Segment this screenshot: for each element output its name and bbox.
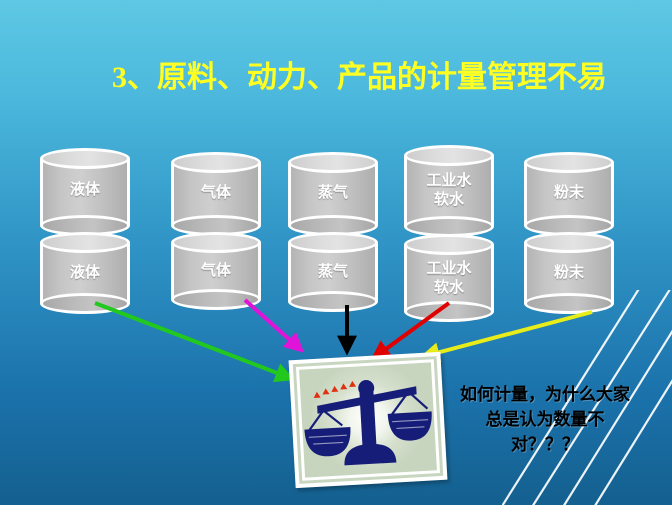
cylinder-label: 液体 — [40, 263, 130, 282]
cylinder-top-ellipse — [524, 152, 614, 173]
cylinder-bottom-ellipse — [288, 291, 378, 312]
cylinder-top-ellipse — [171, 152, 261, 173]
cylinder-label: 工业水 软水 — [404, 171, 494, 209]
cylinder-top-ellipse — [40, 232, 130, 253]
page-title: 3、原料、动力、产品的计量管理不易 — [112, 58, 672, 98]
cylinder-label: 蒸气 — [288, 183, 378, 202]
cylinder-top-ellipse — [404, 234, 494, 255]
motion-marker-triangles — [313, 381, 357, 398]
slide-canvas: 3、原料、动力、产品的计量管理不易 液体 液体 气体 气体 — [0, 0, 672, 505]
cylinder-top-ellipse — [288, 152, 378, 173]
cylinder-label: 蒸气 — [288, 262, 378, 281]
cylinder-top-ellipse — [524, 232, 614, 253]
cylinder-label: 气体 — [171, 183, 261, 202]
cylinder-top-ellipse — [171, 232, 261, 253]
cylinder-label: 粉末 — [524, 263, 614, 282]
balance-scale-icon — [299, 362, 437, 477]
question-text: 如何计量，为什么大家总是认为数量不对？？？ — [452, 382, 638, 457]
card-face — [299, 362, 437, 477]
cylinder-top-ellipse — [40, 148, 130, 169]
cylinder-bottom-ellipse — [404, 301, 494, 322]
balance-scale-card — [289, 352, 448, 488]
arrow-magenta — [245, 300, 300, 349]
arrow-green — [95, 303, 290, 378]
cylinder-top-ellipse — [288, 232, 378, 253]
cylinder-label: 工业水 软水 — [404, 259, 494, 297]
cylinder-label: 粉末 — [524, 183, 614, 202]
cylinder-bottom-ellipse — [524, 293, 614, 314]
cylinder-top-ellipse — [404, 145, 494, 166]
cylinder-bottom-ellipse — [171, 289, 261, 310]
cylinder-bottom-ellipse — [40, 293, 130, 314]
cylinder-label: 液体 — [40, 180, 130, 199]
cylinder-label: 气体 — [171, 261, 261, 280]
